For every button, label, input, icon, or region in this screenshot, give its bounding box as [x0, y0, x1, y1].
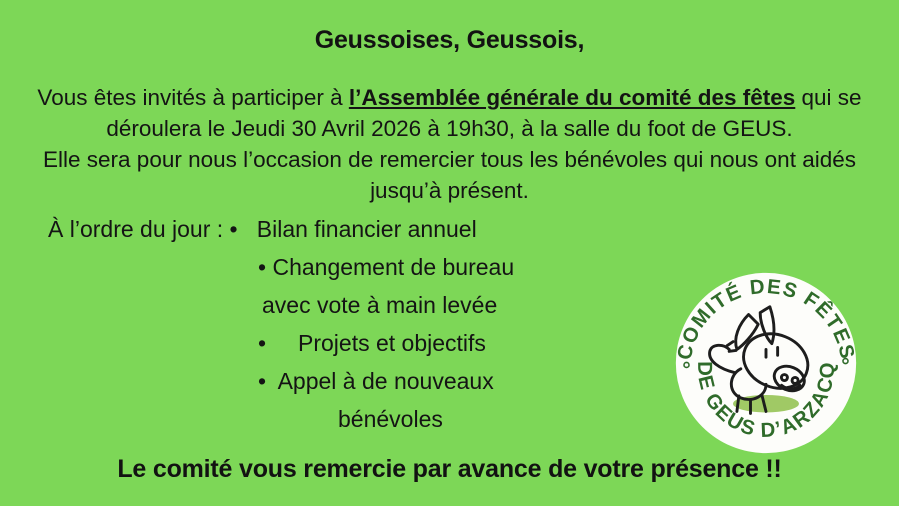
page-title: Geussoises, Geussois, [0, 27, 899, 55]
agenda-row: avec vote à main levée [0, 286, 660, 324]
agenda-gap [238, 216, 257, 242]
agenda-row: bénévoles [0, 400, 660, 438]
agenda-item-label: Appel à de nouveaux [278, 368, 494, 394]
agenda-item-label: Bilan financier annuel [257, 216, 477, 242]
footer-thankyou: Le comité vous remercie par avance de vo… [0, 455, 899, 484]
bullet-icon: • [258, 332, 266, 355]
agenda-item-label: bénévoles [338, 406, 443, 432]
agenda-gap [266, 330, 298, 356]
intro-paragraph: Vous êtes invités à participer à l’Assem… [22, 82, 877, 206]
committee-logo: COMITÉ DES FÊTES DE GEUS D’ARZACQ [668, 268, 864, 458]
bullet-icon: • [258, 256, 266, 279]
intro-text-part3: Elle sera pour nous l’occasion de remerc… [43, 147, 856, 203]
bullet-icon: • [230, 218, 238, 241]
poster-canvas: Geussoises, Geussois, Vous êtes invités … [0, 0, 899, 506]
agenda-row: À l’ordre du jour : • Bilan financier an… [0, 210, 660, 248]
bullet-icon: • [258, 370, 266, 393]
intro-emphasis: l’Assemblée générale du comité des fêtes [349, 85, 795, 110]
agenda-item-label: avec vote à main levée [262, 292, 497, 318]
agenda-row: • Appel à de nouveaux [0, 362, 660, 400]
agenda-item-label: Changement de bureau [272, 254, 514, 280]
agenda-label: À l’ordre du jour : [48, 216, 223, 242]
agenda-gap [266, 368, 278, 394]
agenda-item-label: Projets et objectifs [298, 330, 486, 356]
intro-text-part1: Vous êtes invités à participer à [37, 85, 348, 110]
agenda-row: • Projets et objectifs [0, 324, 660, 362]
agenda-block: À l’ordre du jour : • Bilan financier an… [0, 210, 660, 438]
agenda-row: • Changement de bureau [0, 248, 660, 286]
